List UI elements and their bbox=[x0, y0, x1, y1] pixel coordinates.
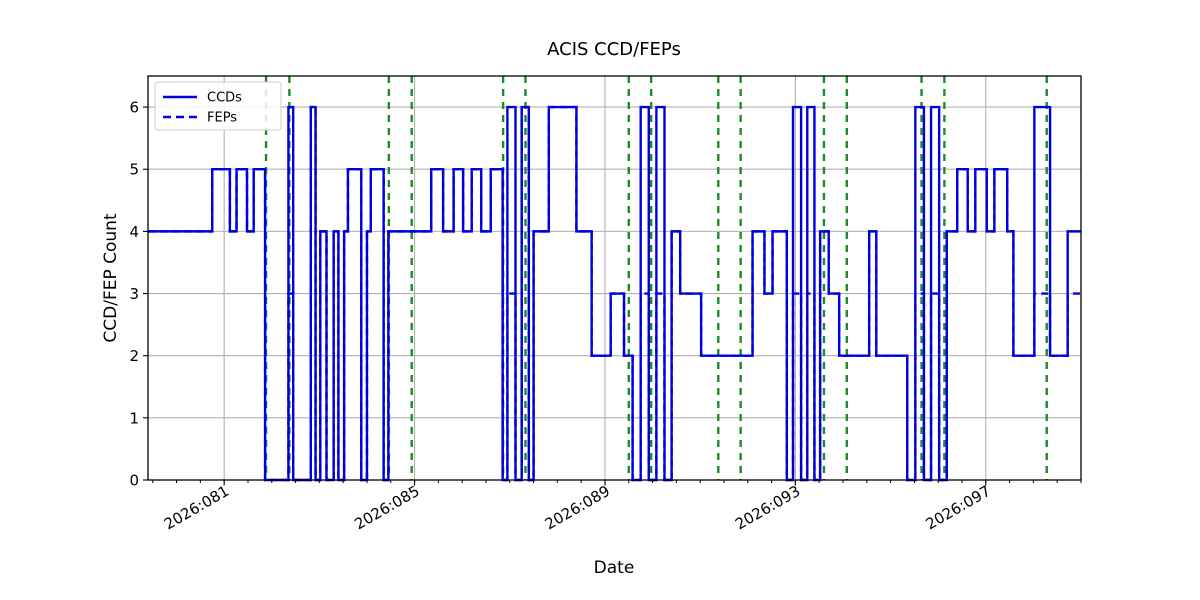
y-tick-label: 4 bbox=[129, 223, 139, 241]
y-tick-label: 6 bbox=[129, 99, 139, 117]
y-tick-label: 2 bbox=[129, 347, 139, 365]
legend-label-ccds[interactable]: CCDs bbox=[207, 91, 242, 106]
y-tick-label: 0 bbox=[129, 472, 139, 490]
x-axis-label: Date bbox=[594, 558, 635, 578]
acis-ccd-fep-chart: ACIS CCD/FEPs 01234562026:0812026:085202… bbox=[0, 0, 1200, 600]
y-tick-label: 5 bbox=[129, 161, 139, 179]
y-axis-label: CCD/FEP Count bbox=[101, 213, 121, 343]
legend-label-feps[interactable]: FEPs bbox=[207, 111, 237, 126]
chart-figure: ACIS CCD/FEPs 01234562026:0812026:085202… bbox=[0, 0, 1200, 600]
y-tick-label: 1 bbox=[129, 409, 139, 427]
y-tick-label: 3 bbox=[129, 285, 139, 303]
chart-legend[interactable]: CCDsFEPs bbox=[155, 82, 281, 130]
chart-title: ACIS CCD/FEPs bbox=[547, 39, 681, 60]
